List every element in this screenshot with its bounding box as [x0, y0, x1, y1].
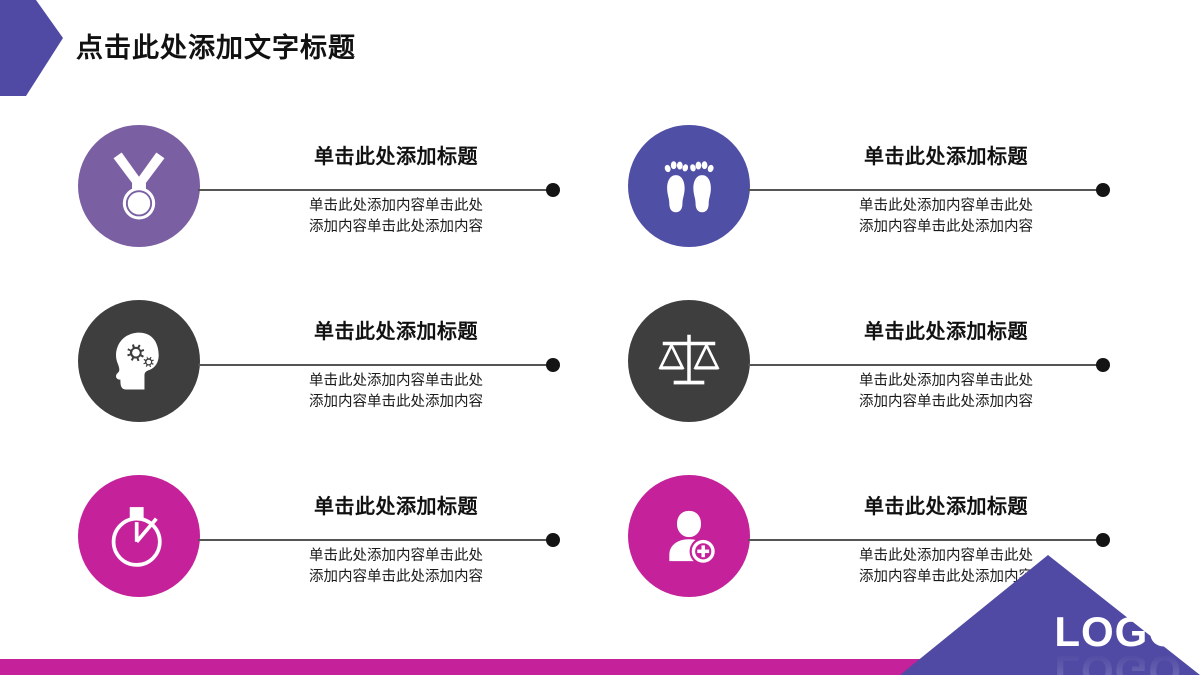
item-text-block: 单击此处添加标题 单击此处添加内容单击此处 添加内容单击此处添加内容	[246, 300, 546, 413]
item-description-line-2: 添加内容单击此处添加内容	[246, 392, 546, 413]
doctor-add-icon	[654, 501, 724, 571]
item-description-line-1: 单击此处添加内容单击此处	[246, 196, 546, 217]
item-title: 单击此处添加标题	[796, 300, 1096, 342]
list-item[interactable]: 单击此处添加标题 单击此处添加内容单击此处 添加内容单击此处添加内容	[78, 300, 598, 430]
bottom-accent-bar	[0, 659, 978, 675]
item-description: 单击此处添加内容单击此处 添加内容单击此处添加内容	[796, 196, 1096, 238]
item-description-line-2: 添加内容单击此处添加内容	[246, 217, 546, 238]
item-description-line-1: 单击此处添加内容单击此处	[246, 546, 546, 567]
connector-dot	[546, 183, 560, 197]
item-description-line-1: 单击此处添加内容单击此处	[796, 196, 1096, 217]
list-item[interactable]: 单击此处添加标题 单击此处添加内容单击此处 添加内容单击此处添加内容	[628, 300, 1148, 430]
connector-dot	[546, 533, 560, 547]
icon-circle-scales[interactable]	[628, 300, 750, 422]
item-text-block: 单击此处添加标题 单击此处添加内容单击此处 添加内容单击此处添加内容	[246, 125, 546, 238]
logo-reflection-text: LOGO	[1054, 649, 1182, 675]
list-item[interactable]: 单击此处添加标题 单击此处添加内容单击此处 添加内容单击此处添加内容	[78, 125, 598, 255]
item-title: 单击此处添加标题	[246, 300, 546, 342]
item-title: 单击此处添加标题	[796, 125, 1096, 167]
head-gears-icon	[104, 326, 174, 396]
medal-icon	[102, 149, 176, 223]
item-description-line-2: 添加内容单击此处添加内容	[796, 217, 1096, 238]
item-description: 单击此处添加内容单击此处 添加内容单击此处添加内容	[796, 371, 1096, 413]
connector-dot	[1096, 533, 1110, 547]
slide-canvas: 点击此处添加文字标题 单击此处添加标题 单击	[0, 0, 1200, 675]
item-description-line-2: 添加内容单击此处添加内容	[246, 567, 546, 588]
item-text-block: 单击此处添加标题 单击此处添加内容单击此处 添加内容单击此处添加内容	[246, 475, 546, 588]
item-description: 单击此处添加内容单击此处 添加内容单击此处添加内容	[246, 196, 546, 238]
icon-circle-stopwatch[interactable]	[78, 475, 200, 597]
stopwatch-icon	[102, 499, 176, 573]
list-item[interactable]: 单击此处添加标题 单击此处添加内容单击此处 添加内容单击此处添加内容	[628, 125, 1148, 255]
scales-balance-icon	[654, 326, 724, 396]
items-grid: 单击此处添加标题 单击此处添加内容单击此处 添加内容单击此处添加内容	[0, 120, 1200, 610]
item-description-line-1: 单击此处添加内容单击此处	[796, 371, 1096, 392]
item-description-line-2: 添加内容单击此处添加内容	[796, 392, 1096, 413]
list-item[interactable]: 单击此处添加标题 单击此处添加内容单击此处 添加内容单击此处添加内容	[78, 475, 598, 605]
item-text-block: 单击此处添加标题 单击此处添加内容单击此处 添加内容单击此处添加内容	[796, 300, 1096, 413]
item-title: 单击此处添加标题	[246, 475, 546, 517]
item-title: 单击此处添加标题	[796, 475, 1096, 517]
page-title: 点击此处添加文字标题	[76, 26, 356, 65]
connector-dot	[1096, 358, 1110, 372]
item-text-block: 单击此处添加标题 单击此处添加内容单击此处 添加内容单击此处添加内容	[796, 125, 1096, 238]
icon-circle-footprints[interactable]	[628, 125, 750, 247]
item-description: 单击此处添加内容单击此处 添加内容单击此处添加内容	[246, 546, 546, 588]
item-description: 单击此处添加内容单击此处 添加内容单击此处添加内容	[246, 371, 546, 413]
icon-circle-head-gears[interactable]	[78, 300, 200, 422]
connector-dot	[1096, 183, 1110, 197]
icon-circle-medal[interactable]	[78, 125, 200, 247]
logo-text: LOGO	[1054, 611, 1182, 653]
icon-circle-doctor[interactable]	[628, 475, 750, 597]
item-description-line-1: 单击此处添加内容单击此处	[246, 371, 546, 392]
footprints-icon	[654, 151, 724, 221]
item-title: 单击此处添加标题	[246, 125, 546, 167]
corner-arrow-decoration	[0, 0, 70, 100]
connector-dot	[546, 358, 560, 372]
